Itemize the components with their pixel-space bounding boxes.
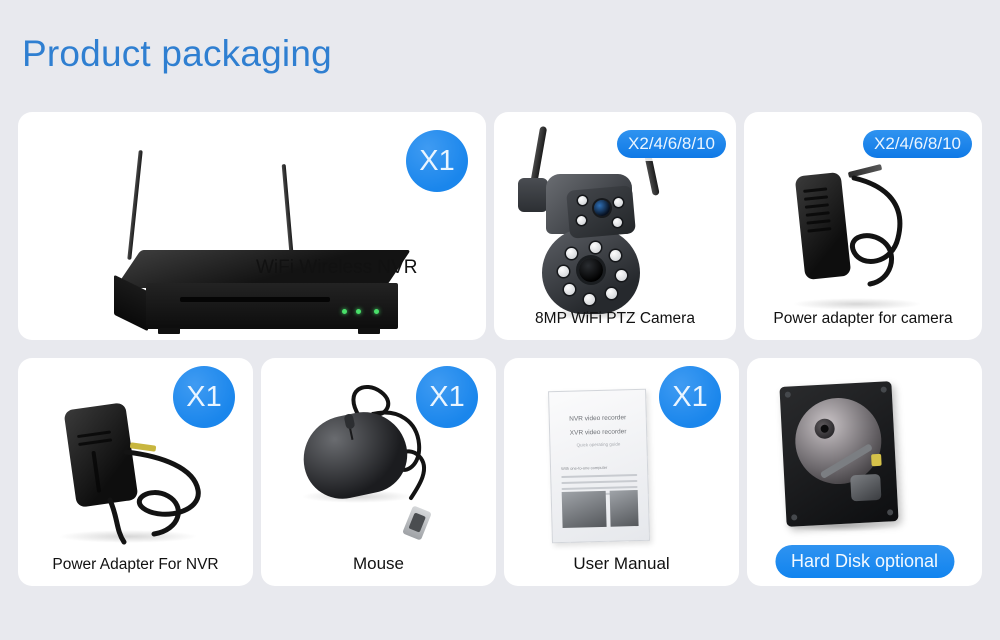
card-caption-camera: 8MP WiFi PTZ Camera <box>494 310 736 328</box>
nvr-led-2 <box>356 309 361 314</box>
product-card-nvr-adapter[interactable]: X1 Power Adapter For NVR <box>18 358 253 586</box>
ir-led-4 <box>616 270 627 281</box>
manual-photo-right <box>610 490 639 527</box>
ir-led-u2 <box>614 198 623 207</box>
packaging-row-top: WiFi Wireless NVR X1 <box>18 112 982 340</box>
hdd-platter <box>793 396 883 486</box>
product-card-mouse[interactable]: X1 Mouse <box>261 358 496 586</box>
quantity-badge-nvr: X1 <box>406 130 468 192</box>
manual-booklet: NVR video recorder XVR video recorder Qu… <box>548 389 650 544</box>
product-card-camera[interactable]: X2/4/6/8/10 8MP WiFi PTZ Camera <box>494 112 736 340</box>
nvr-inline-label: WiFi Wireless NVR <box>256 257 418 279</box>
product-card-camera-adapter[interactable]: X2/4/6/8/10 Power adapter for camera <box>744 112 982 340</box>
nvr-foot-left <box>158 328 180 334</box>
adapter-vent-3 <box>805 203 829 208</box>
manual-bullet-text: With one-to-one computer <box>561 465 607 471</box>
manual-subtitle: Quick operating guide <box>550 441 646 449</box>
adapter-vent-4 <box>806 211 830 216</box>
hdd-yellow-tab <box>871 454 882 467</box>
camera-main-lens <box>579 258 603 282</box>
ir-led-1 <box>566 248 577 259</box>
quantity-badge-nvr-adapter: X1 <box>173 366 235 428</box>
product-card-user-manual[interactable]: NVR video recorder XVR video recorder Qu… <box>504 358 739 586</box>
hdd-screw-tl <box>785 391 791 397</box>
adapter-vent-2 <box>804 195 828 200</box>
adapter-vent-6 <box>807 227 831 232</box>
hdd-voice-coil <box>850 474 881 502</box>
nvr-adapter-vent-1 <box>77 430 111 438</box>
adapter-cable <box>836 172 956 302</box>
quantity-badge-camera: X2/4/6/8/10 <box>617 130 726 158</box>
ir-led-7 <box>564 284 575 295</box>
camera-mount-bracket <box>518 178 548 212</box>
card-caption-camera-adapter: Power adapter for camera <box>744 310 982 328</box>
card-caption-mouse: Mouse <box>261 554 496 574</box>
hard-disk-drive <box>779 381 898 527</box>
hdd-screw-bl <box>791 514 797 520</box>
nvr-led-1 <box>342 309 347 314</box>
ir-led-5 <box>606 288 617 299</box>
ir-led-2 <box>590 242 601 253</box>
ir-led-u1 <box>578 196 587 205</box>
manual-title-line-2: XVR video recorder <box>550 428 646 438</box>
product-packaging-page: Product packaging WiFi Wireless NVR <box>0 0 1000 640</box>
product-card-nvr[interactable]: WiFi Wireless NVR X1 <box>18 112 486 340</box>
ir-led-6 <box>584 294 595 305</box>
manual-photo-left <box>562 491 607 528</box>
quantity-badge-user-manual: X1 <box>659 366 721 428</box>
card-caption-nvr-adapter: Power Adapter For NVR <box>18 556 253 574</box>
adapter-vent-1 <box>803 187 827 192</box>
antenna-right-icon <box>282 164 295 264</box>
adapter-vent-5 <box>806 219 830 224</box>
ir-led-3 <box>610 250 621 261</box>
nvr-foot-right <box>358 328 380 334</box>
antenna-left-icon <box>127 150 142 260</box>
ir-led-u4 <box>613 218 622 227</box>
hdd-screw-br <box>887 509 893 515</box>
quantity-badge-camera-adapter: X2/4/6/8/10 <box>863 130 972 158</box>
manual-body-line-1 <box>561 474 637 478</box>
camera-upper-lens <box>594 200 610 216</box>
packaging-row-bottom: X1 Power Adapter For NVR X1 Mouse <box>18 358 982 586</box>
hdd-screw-tr <box>881 386 887 392</box>
nvr-front-panel <box>146 283 398 329</box>
nvr-led-3 <box>374 309 379 314</box>
product-card-hard-disk[interactable]: Hard Disk optional <box>747 358 982 586</box>
nvr-front-slot <box>180 297 330 302</box>
nvr-adapter-seam <box>91 451 101 493</box>
ir-led-u3 <box>577 216 586 225</box>
quantity-badge-mouse: X1 <box>416 366 478 428</box>
card-caption-hard-disk: Hard Disk optional <box>775 545 954 578</box>
usb-connector-inner <box>408 512 425 532</box>
page-title: Product packaging <box>22 33 332 75</box>
card-caption-user-manual: User Manual <box>504 554 739 574</box>
manual-title-line-1: NVR video recorder <box>550 414 646 424</box>
ir-led-8 <box>558 266 569 277</box>
nvr-adapter-cable <box>102 438 232 548</box>
manual-body-line-2 <box>561 480 637 484</box>
